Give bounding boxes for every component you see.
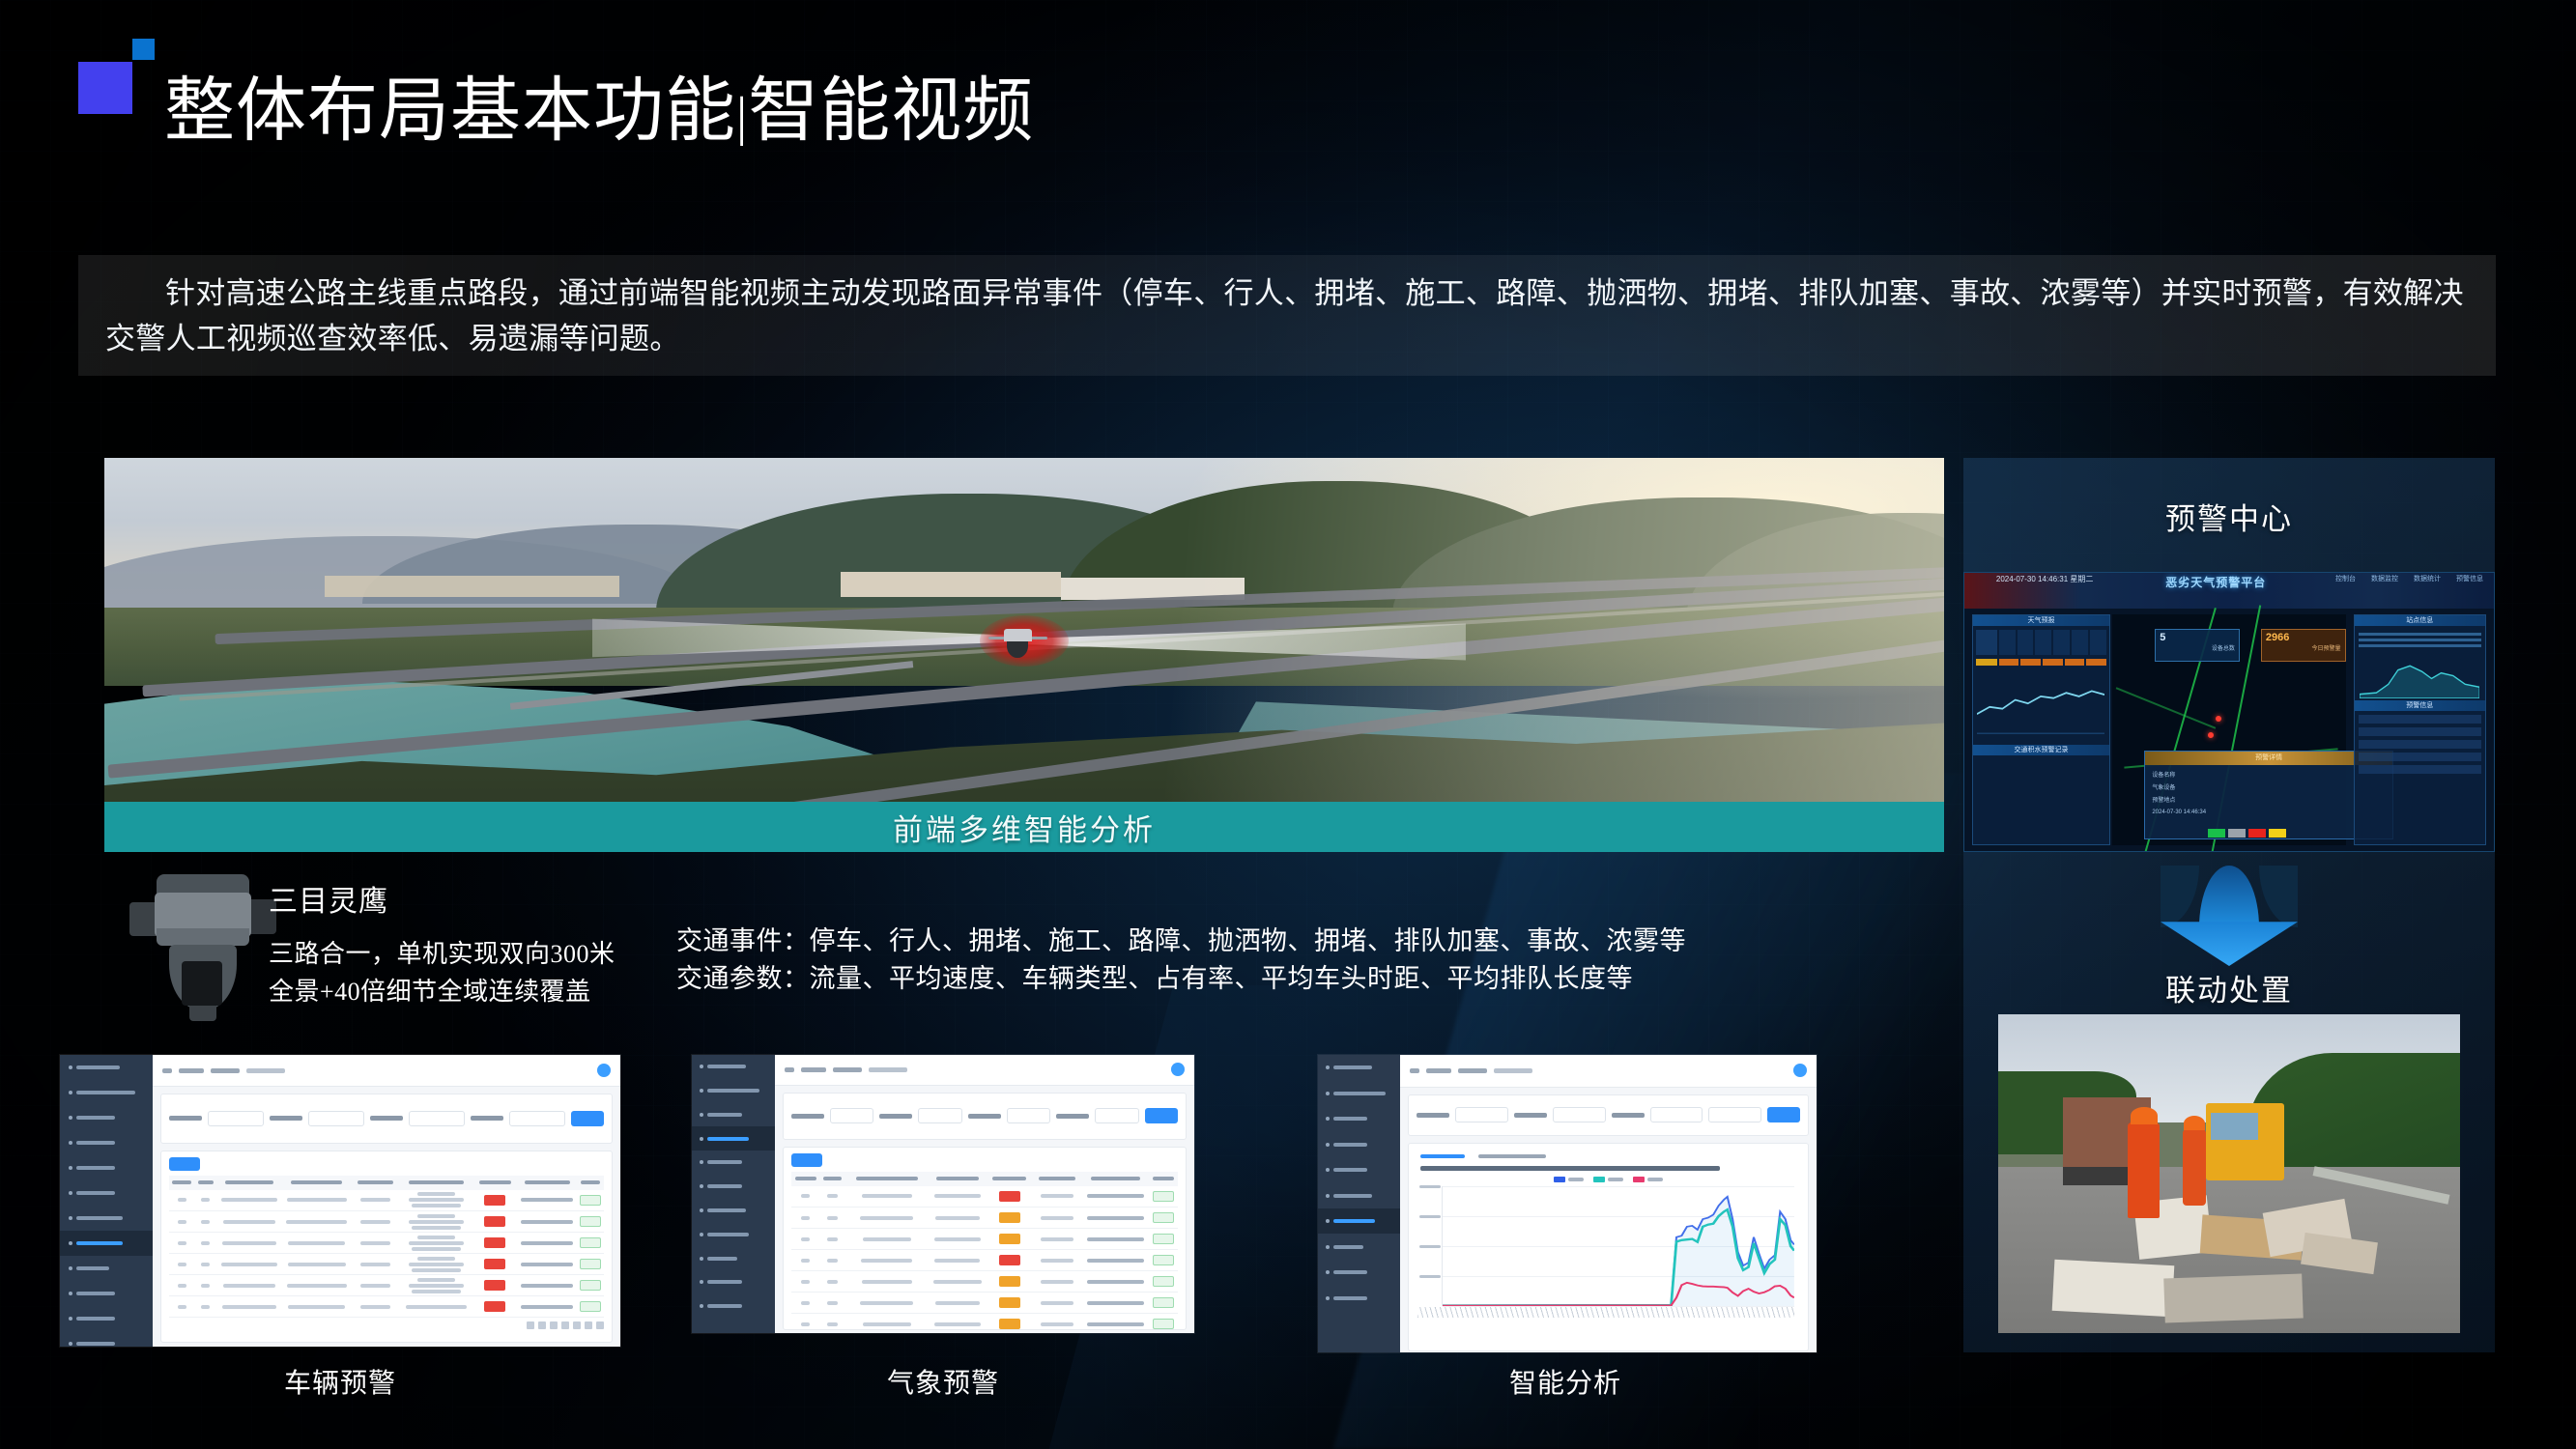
wdash-device-count-label: 设备总数 xyxy=(2156,643,2239,652)
alert-timestamp xyxy=(521,1305,573,1309)
road-incident-photo xyxy=(1998,1014,2460,1333)
arrow-stem-cutouts xyxy=(2161,866,2298,927)
slide-header: 整体布局基本功能|智能视频 xyxy=(0,60,2576,166)
title-marker-square-small xyxy=(132,39,155,60)
wdash-right-title-2: 预警信息 xyxy=(2355,700,2485,711)
chart-x-axis-labels xyxy=(1417,1307,1794,1318)
alert-time-input[interactable] xyxy=(1095,1108,1139,1123)
page-title-main: 整体布局基本功能 xyxy=(164,71,736,150)
chart-legend[interactable] xyxy=(1417,1177,1800,1182)
sidebar-item[interactable] xyxy=(1318,1157,1400,1182)
sidebar-item-selected[interactable] xyxy=(692,1126,775,1151)
wdash-right-panel: 站点信息 预警信息 xyxy=(2354,614,2486,845)
wdash-alarm-count-label: 今日预警量 xyxy=(2262,643,2345,652)
table-row[interactable] xyxy=(791,1293,1178,1314)
device-location-input[interactable] xyxy=(918,1108,962,1123)
search-button[interactable] xyxy=(571,1111,604,1126)
dashboard-breadcrumb-bar xyxy=(775,1055,1194,1086)
wdash-legend-fog xyxy=(2269,829,2286,838)
sidebar-item[interactable] xyxy=(692,1270,775,1294)
camera-mount xyxy=(189,1006,216,1021)
wdash-alarm-count-value: 2966 xyxy=(2262,630,2345,643)
avatar[interactable] xyxy=(1171,1063,1185,1076)
date-range-start[interactable] xyxy=(1650,1107,1703,1122)
dashboard-caption-weather-alert: 气象预警 xyxy=(730,1362,1156,1401)
sidebar-subitem[interactable] xyxy=(60,1256,153,1281)
highway-aerial-photo xyxy=(104,458,1944,851)
detail-button[interactable] xyxy=(1153,1255,1174,1265)
dashboard-sidebar[interactable] xyxy=(1318,1055,1400,1352)
alert-level-badge xyxy=(484,1280,505,1291)
alert-level-badge xyxy=(999,1276,1020,1287)
chart-series-svg xyxy=(1443,1186,1794,1306)
intro-panel: 针对高速公路主线重点路段，通过前端智能视频主动发现路面异常事件（停车、行人、拥堵… xyxy=(78,255,2496,376)
traffic-events-line: 交通事件：停车、行人、拥堵、施工、路障、抛洒物、拥堵、排队加塞、事故、浓雾等 xyxy=(676,923,1686,960)
table-card xyxy=(160,1151,613,1343)
alert-type-select[interactable] xyxy=(1007,1108,1051,1123)
photo-canvas xyxy=(104,458,1944,851)
flow-down-arrow-icon xyxy=(2161,866,2298,966)
camera-body-lower xyxy=(157,928,248,947)
incident-worker xyxy=(2128,1122,2160,1218)
alert-level-badge xyxy=(484,1259,505,1269)
dashboard-caption-intelligent-analysis: 智能分析 xyxy=(1353,1362,1778,1401)
wdash-weather-legend xyxy=(2208,829,2286,838)
detail-button[interactable] xyxy=(580,1237,601,1248)
legend-item xyxy=(1593,1177,1623,1182)
table-row[interactable] xyxy=(169,1233,604,1254)
wdash-card-field: 预警地点 xyxy=(2152,798,2175,804)
chart-title xyxy=(1420,1166,1720,1171)
wdash-nav-item[interactable]: 数据统计 xyxy=(2414,574,2441,583)
camera-head xyxy=(1004,629,1032,641)
device-name-input[interactable] xyxy=(208,1111,264,1126)
sidebar-item[interactable] xyxy=(1318,1285,1400,1310)
sidebar-item[interactable] xyxy=(1318,1131,1400,1156)
chart-card xyxy=(1408,1143,1809,1351)
sidebar-item[interactable] xyxy=(692,1294,775,1319)
page-title-sub: 智能视频 xyxy=(748,71,1034,150)
warning-center-label: 预警中心 xyxy=(1963,495,2495,538)
device-location-input[interactable] xyxy=(308,1111,364,1126)
dashboard-breadcrumb-bar xyxy=(153,1055,620,1087)
wdash-map-alert-marker[interactable] xyxy=(2216,716,2221,722)
alert-timestamp xyxy=(521,1220,573,1224)
wdash-nav-item[interactable]: 预警信息 xyxy=(2456,574,2483,583)
sidebar-item[interactable] xyxy=(692,1151,775,1175)
intro-paragraph: 针对高速公路主线重点路段，通过前端智能视频主动发现路面异常事件（停车、行人、拥堵… xyxy=(78,255,2496,361)
device-spec-2: 全景+40倍细节全域连续覆盖 xyxy=(269,973,615,1010)
wdash-card-field: 设备名称 xyxy=(2152,773,2175,779)
weather-alert-dashboard[interactable] xyxy=(692,1055,1194,1333)
traffic-parameters-line: 交通参数：流量、平均速度、车辆类型、占有率、平均车头时距、平均排队长度等 xyxy=(676,960,1686,998)
device-spec-1: 三路合一，单机实现双向300米 xyxy=(269,935,615,973)
table-row[interactable] xyxy=(169,1275,604,1296)
weather-warning-dashboard-thumbnail[interactable]: 2024-07-30 14:46:31 星期二 恶劣天气预警平台 控制台 数据监… xyxy=(1963,572,2495,852)
alert-timestamp xyxy=(1087,1322,1144,1326)
sidebar-item[interactable] xyxy=(692,1103,775,1127)
tab-traffic-statistics[interactable] xyxy=(1420,1154,1465,1158)
dashboard-main xyxy=(153,1055,620,1347)
incident-worker xyxy=(2183,1129,2206,1206)
sidebar-subitem-selected[interactable] xyxy=(60,1231,153,1256)
device-name-select[interactable] xyxy=(1553,1107,1606,1122)
alert-level-badge xyxy=(484,1195,505,1206)
wdash-nav-item[interactable]: 控制台 xyxy=(2335,574,2356,583)
vehicle-alert-dashboard[interactable] xyxy=(60,1055,620,1347)
chart-tabs[interactable] xyxy=(1417,1150,1800,1161)
wdash-nav[interactable]: 控制台 数据监控 数据统计 预警信息 xyxy=(2335,574,2483,583)
query-button[interactable] xyxy=(1767,1107,1800,1122)
sidebar-item[interactable] xyxy=(60,1080,153,1105)
wdash-left-panel: 天气预报 交通积水预警记录 xyxy=(1972,614,2109,845)
arrow-head xyxy=(2161,922,2298,966)
road-name-select[interactable] xyxy=(1455,1107,1508,1122)
dashboard-sidebar[interactable] xyxy=(692,1055,775,1333)
sidebar-item[interactable] xyxy=(1318,1055,1400,1080)
sidebar-item[interactable] xyxy=(60,1130,153,1155)
date-range-end[interactable] xyxy=(1708,1107,1761,1122)
table-header-row xyxy=(791,1172,1178,1186)
detail-button[interactable] xyxy=(1153,1212,1174,1223)
wdash-left-title: 天气预报 xyxy=(1973,615,2108,626)
detail-button[interactable] xyxy=(580,1195,601,1206)
intelligent-analysis-dashboard[interactable] xyxy=(1318,1055,1817,1352)
wdash-card-field: 气象设备 xyxy=(2152,785,2175,791)
wdash-temp-chart xyxy=(1977,675,2104,735)
detail-button[interactable] xyxy=(1153,1319,1174,1329)
alert-timestamp xyxy=(1087,1194,1144,1198)
wdash-left-title-2: 交通积水预警记录 xyxy=(1973,745,2108,755)
disposal-label: 联动处置 xyxy=(1963,966,2495,1009)
alert-level-badge xyxy=(999,1212,1020,1223)
avatar[interactable] xyxy=(597,1064,611,1077)
wdash-card-time: 2024-07-30 14:46:34 xyxy=(2152,810,2206,815)
detail-button[interactable] xyxy=(1153,1297,1174,1308)
analysis-banner: 前端多维智能分析 xyxy=(104,802,1944,852)
ptz-camera-icon xyxy=(135,874,271,1024)
alert-timestamp xyxy=(521,1241,573,1245)
incident-debris xyxy=(2052,1260,2175,1317)
sidebar-item[interactable] xyxy=(1318,1106,1400,1131)
wdash-device-count: 5 设备总数 xyxy=(2155,629,2240,663)
alert-level-badge xyxy=(999,1297,1020,1308)
wdash-legend-rainstorm xyxy=(2248,829,2266,838)
wdash-traffic-chart xyxy=(2360,656,2479,698)
detail-button[interactable] xyxy=(580,1259,601,1269)
sidebar-item[interactable] xyxy=(60,1331,153,1347)
detail-button[interactable] xyxy=(1153,1191,1174,1202)
alert-level-badge xyxy=(999,1191,1020,1202)
sidebar-subitem[interactable] xyxy=(60,1206,153,1231)
table-row[interactable] xyxy=(169,1190,604,1211)
page-title: 整体布局基本功能|智能视频 xyxy=(164,68,1034,154)
sidebar-item[interactable] xyxy=(1318,1182,1400,1207)
table-row[interactable] xyxy=(169,1211,604,1233)
table-row[interactable] xyxy=(791,1186,1178,1207)
incident-yellow-truck xyxy=(2206,1103,2284,1179)
device-description: 三目灵鹰 三路合一，单机实现双向300米 全景+40倍细节全域连续覆盖 xyxy=(269,877,615,1010)
sidebar-item[interactable] xyxy=(60,1306,153,1331)
alert-timestamp xyxy=(1087,1237,1144,1241)
detail-button[interactable] xyxy=(580,1280,601,1291)
alert-type-select[interactable] xyxy=(409,1111,465,1126)
search-button[interactable] xyxy=(1145,1108,1178,1123)
sidebar-item[interactable] xyxy=(60,1055,153,1080)
sidebar-item-selected[interactable] xyxy=(1318,1208,1400,1234)
table-row[interactable] xyxy=(169,1254,604,1275)
alert-level-badge xyxy=(999,1234,1020,1244)
sidebar-item[interactable] xyxy=(1318,1080,1400,1105)
sidebar-subitem[interactable] xyxy=(1318,1234,1400,1259)
sidebar-item[interactable] xyxy=(692,1055,775,1079)
sidebar-item[interactable] xyxy=(60,1105,153,1130)
wdash-alarm-count: 2966 今日预警量 xyxy=(2261,629,2346,663)
table-row[interactable] xyxy=(791,1250,1178,1271)
alert-timestamp xyxy=(1087,1259,1144,1263)
alert-level-badge xyxy=(484,1237,505,1248)
tab-vehicle-type-statistics[interactable] xyxy=(1478,1154,1546,1158)
alert-timestamp xyxy=(1087,1301,1144,1305)
table-card xyxy=(783,1147,1187,1330)
dashboard-main xyxy=(1400,1055,1817,1352)
filter-bar[interactable] xyxy=(160,1094,613,1143)
sidebar-item[interactable] xyxy=(692,1199,775,1223)
table-row[interactable] xyxy=(791,1314,1178,1333)
incident-debris xyxy=(2163,1273,2304,1322)
alert-level-badge xyxy=(999,1255,1020,1265)
alert-level-badge xyxy=(484,1301,505,1312)
alert-level-badge xyxy=(999,1319,1020,1329)
wdash-right-title: 站点信息 xyxy=(2355,615,2485,626)
sidebar-item[interactable] xyxy=(1318,1260,1400,1285)
wdash-title: 恶劣天气预警平台 xyxy=(2165,574,2266,590)
sidebar-item[interactable] xyxy=(60,1155,153,1180)
legend-item xyxy=(1633,1177,1663,1182)
weather-alert-table xyxy=(791,1172,1178,1333)
camera-dome xyxy=(1007,641,1028,658)
alert-timestamp xyxy=(1087,1216,1144,1220)
sidebar-item[interactable] xyxy=(692,1175,775,1199)
filter-bar[interactable] xyxy=(783,1093,1187,1140)
wdash-map-alert-marker[interactable] xyxy=(2208,732,2214,738)
sidebar-item[interactable] xyxy=(60,1180,153,1206)
alert-timestamp xyxy=(521,1284,573,1288)
sidebar-subitem[interactable] xyxy=(692,1222,775,1246)
sidebar-subitem[interactable] xyxy=(692,1246,775,1270)
avatar[interactable] xyxy=(1793,1064,1807,1077)
sidebar-item[interactable] xyxy=(692,1079,775,1103)
table-row[interactable] xyxy=(791,1229,1178,1250)
detail-button[interactable] xyxy=(580,1301,601,1312)
sidebar-item[interactable] xyxy=(60,1281,153,1306)
analysis-banner-label: 前端多维智能分析 xyxy=(893,806,1156,849)
capabilities-list: 交通事件：停车、行人、拥堵、施工、路障、抛洒物、拥堵、排队加塞、事故、浓雾等 交… xyxy=(676,923,1686,998)
export-button[interactable] xyxy=(791,1153,822,1167)
filter-bar[interactable] xyxy=(1408,1094,1809,1136)
wdash-topbar: 2024-07-30 14:46:31 星期二 恶劣天气预警平台 控制台 数据监… xyxy=(1964,573,2494,609)
device-name: 三目灵鹰 xyxy=(269,877,615,920)
alert-timestamp xyxy=(1087,1280,1144,1284)
device-name-input[interactable] xyxy=(830,1108,874,1123)
wdash-nav-item[interactable]: 数据监控 xyxy=(2371,574,2398,583)
camera-window xyxy=(182,961,222,1007)
wdash-datetime: 2024-07-30 14:46:31 星期二 xyxy=(1996,574,2094,584)
alert-level-badge xyxy=(484,1216,505,1227)
alert-time-input[interactable] xyxy=(509,1111,565,1126)
chart-plot-area xyxy=(1442,1186,1794,1306)
table-row[interactable] xyxy=(169,1296,604,1318)
table-pagination[interactable] xyxy=(169,1321,604,1329)
dashboard-sidebar[interactable] xyxy=(60,1055,153,1347)
dashboard-breadcrumb-bar xyxy=(1400,1055,1817,1088)
alert-timestamp xyxy=(521,1198,573,1202)
roadside-camera-icon xyxy=(1004,629,1032,658)
dashboard-caption-vehicle-alert: 车辆预警 xyxy=(157,1362,524,1401)
detail-button[interactable] xyxy=(1153,1276,1174,1287)
legend-item xyxy=(1554,1177,1584,1182)
wdash-device-count-value: 5 xyxy=(2156,630,2239,643)
alert-table xyxy=(169,1176,604,1319)
detail-button[interactable] xyxy=(580,1216,601,1227)
detail-button[interactable] xyxy=(1153,1234,1174,1244)
alert-timestamp xyxy=(521,1263,573,1266)
dashboard-main xyxy=(775,1055,1194,1333)
table-row[interactable] xyxy=(791,1207,1178,1229)
page-title-separator: | xyxy=(736,87,748,147)
wdash-legend-cloudy xyxy=(2228,829,2246,838)
wdash-legend-clear xyxy=(2208,829,2225,838)
table-header-row xyxy=(169,1176,604,1190)
table-row[interactable] xyxy=(791,1271,1178,1293)
export-button[interactable] xyxy=(169,1157,200,1171)
